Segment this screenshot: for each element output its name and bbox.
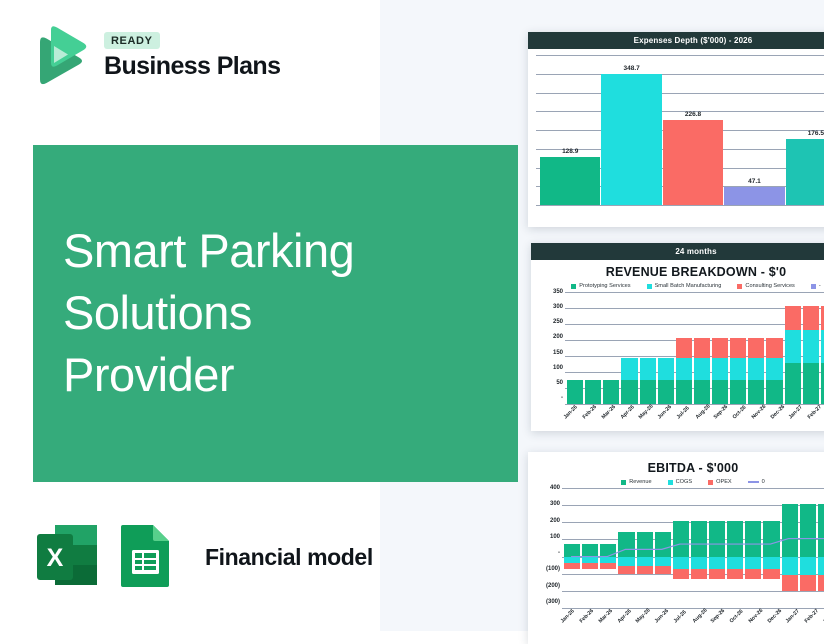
positive-stack [709, 521, 725, 556]
bar-segment[interactable] [785, 330, 801, 363]
bar-segment[interactable] [727, 521, 743, 556]
x-tick-label: Jun-26 [654, 608, 670, 624]
x-tick: Oct-26 [727, 609, 744, 635]
chart-card-expenses[interactable]: Expenses Depth ($'000) - 2026 128.9348.7… [528, 32, 824, 227]
expenses-bars: 128.9348.7226.847.1176.5 [536, 55, 824, 205]
positive-stack [691, 521, 707, 556]
x-tick-label: Sep-26 [710, 608, 727, 625]
bar-segment[interactable] [800, 575, 816, 591]
revenue-bars [565, 292, 824, 404]
chart-title-expenses: Expenses Depth ($'000) - 2026 [528, 32, 824, 49]
x-tick: Feb-26 [577, 609, 594, 635]
x-tick: Apr-26 [614, 609, 631, 635]
y-axis-ebitda: 400300200100-(100)(200)(300) [534, 488, 560, 608]
svg-text:X: X [47, 544, 64, 572]
negative-stack [727, 557, 743, 580]
bar-segment[interactable] [730, 380, 746, 404]
bar-segment[interactable] [818, 557, 824, 576]
positive-stack [818, 504, 824, 557]
y-tick-label: 100 [534, 534, 560, 540]
bar-segment[interactable] [585, 380, 601, 404]
bar-column[interactable]: 128.9 [540, 55, 600, 205]
bar-segment[interactable] [618, 532, 634, 557]
bar-segment[interactable] [658, 358, 674, 380]
bar-segment[interactable] [748, 380, 764, 404]
bar-segment[interactable] [694, 338, 710, 357]
bar-segment[interactable] [658, 380, 674, 404]
x-tick: Mar-26 [596, 609, 613, 635]
positive-stack [727, 521, 743, 556]
legend-item[interactable]: OPEX [708, 479, 732, 485]
bar-segment[interactable] [640, 358, 656, 380]
bar-segment[interactable] [618, 566, 634, 574]
y-tick-label: (200) [534, 583, 560, 589]
stacked-bar-column[interactable] [785, 292, 801, 404]
stacked-bar-column[interactable] [658, 292, 674, 404]
stacked-bar-column[interactable] [673, 488, 689, 608]
x-tick-label: Feb-26 [579, 608, 595, 624]
bar-segment[interactable] [709, 557, 725, 569]
footer-label: Financial model [205, 544, 373, 571]
legend-swatch [708, 480, 713, 485]
bar-segment[interactable] [673, 557, 689, 569]
x-tick-label: Dec-26 [766, 608, 783, 625]
x-tick-label: Feb-27 [807, 404, 823, 420]
bar-segment[interactable] [803, 306, 819, 329]
x-tick: Oct-26 [730, 405, 747, 431]
bar-segment[interactable] [800, 557, 816, 576]
negative-stack [691, 557, 707, 580]
bar[interactable] [540, 157, 600, 205]
bar-segment[interactable] [766, 358, 782, 380]
chart-card-revenue[interactable]: 24 months REVENUE BREAKDOWN - $'0 Protot… [531, 243, 824, 431]
page-title: Smart Parking Solutions Provider [63, 220, 483, 406]
negative-stack [763, 557, 779, 580]
x-tick-label: Jan-26 [563, 404, 579, 420]
stacked-bar-column[interactable] [585, 292, 601, 404]
x-tick: Dec-26 [767, 405, 784, 431]
legend-swatch [737, 284, 742, 289]
y-tick-label: - [534, 550, 560, 556]
bar-segment[interactable] [567, 380, 583, 404]
brand-name: Business Plans [104, 53, 280, 79]
x-tick-label: Jun-26 [657, 404, 673, 420]
positive-stack [637, 532, 653, 557]
x-tick: Dec-26 [764, 609, 781, 635]
bar-segment[interactable] [763, 569, 779, 579]
double-play-triangle-logo-icon [30, 26, 90, 86]
legend-item[interactable]: Revenue [621, 479, 651, 485]
stacked-bar-column[interactable] [637, 488, 653, 608]
x-tick-label: Jan-27 [788, 404, 804, 420]
x-axis-ebitda: Jan-26Feb-26Mar-26Apr-26May-26Jun-26Jul-… [528, 609, 824, 635]
bar-segment[interactable] [603, 380, 619, 404]
x-tick-label: Mar-26 [598, 608, 614, 624]
bar-segment[interactable] [748, 338, 764, 357]
negative-stack [673, 557, 689, 580]
revenue-plot-area: 35030025020015010050- [537, 292, 824, 404]
bar-segment[interactable] [727, 557, 743, 569]
x-tick-label: Feb-26 [582, 404, 598, 420]
bar-segment[interactable] [564, 544, 580, 557]
bar-segment[interactable] [730, 338, 746, 357]
bar-segment[interactable] [694, 380, 710, 404]
stacked-bar-column[interactable] [709, 488, 725, 608]
legend-swatch [811, 284, 816, 289]
x-tick: Mar-26 [599, 405, 616, 431]
x-tick: Aug-26 [692, 405, 709, 431]
chart-legend-ebitda: RevenueCOGSOPEX0 [528, 475, 824, 486]
x-tick-label: Aug-26 [694, 403, 711, 420]
x-tick-label: Oct-26 [729, 609, 745, 625]
chart-banner-revenue: 24 months [531, 243, 824, 260]
bar-value-label: 47.1 [748, 178, 761, 185]
x-tick-label: Aug-26 [691, 607, 708, 624]
x-tick: Jan-26 [561, 405, 578, 431]
bar-segment[interactable] [673, 521, 689, 556]
x-tick-label: Feb-27 [804, 608, 820, 624]
negative-stack [782, 557, 798, 592]
stacked-bar-column[interactable] [694, 292, 710, 404]
bar-segment[interactable] [691, 569, 707, 579]
bar-segment[interactable] [766, 338, 782, 357]
stacked-bar-column[interactable] [640, 292, 656, 404]
stacked-bar-column[interactable] [800, 488, 816, 608]
bar-segment[interactable] [745, 521, 761, 556]
legend-label: Prototyping Services [579, 283, 630, 289]
stacked-bar-column[interactable] [803, 292, 819, 404]
footer-row: X Financial model [33, 521, 373, 593]
x-tick: Jul-26 [671, 609, 688, 635]
x-tick: Feb-27 [805, 405, 822, 431]
x-tick-label: Jul-26 [676, 405, 691, 420]
stacked-bar-column[interactable] [818, 488, 824, 608]
brand-lockup: READY Business Plans [30, 26, 280, 86]
bar-segment[interactable] [818, 504, 824, 557]
bar-segment[interactable] [818, 575, 824, 591]
bar-segment[interactable] [655, 566, 671, 574]
stacked-bar-column[interactable] [600, 488, 616, 608]
bar-column[interactable]: 176.5 [786, 55, 824, 205]
y-tick-label: (300) [534, 599, 560, 605]
x-tick: Aug-26 [689, 609, 706, 635]
microsoft-excel-icon: X [33, 521, 101, 593]
legend-swatch [647, 284, 652, 289]
bar-segment[interactable] [621, 380, 637, 404]
stacked-bar-column[interactable] [567, 292, 583, 404]
bar-segment[interactable] [676, 358, 692, 380]
bar-segment[interactable] [655, 532, 671, 557]
bar-segment[interactable] [730, 358, 746, 380]
x-tick-label: Apr-26 [616, 608, 632, 624]
legend-label: OPEX [716, 479, 732, 485]
stacked-bar-column[interactable] [766, 292, 782, 404]
x-tick-label: Jan-27 [785, 608, 801, 624]
google-sheets-icon [115, 521, 183, 593]
positive-stack [600, 544, 616, 557]
bar-segment[interactable] [637, 557, 653, 566]
bar-segment[interactable] [637, 566, 653, 574]
legend-label: COGS [676, 479, 692, 485]
positive-stack [655, 532, 671, 557]
stacked-bar-column[interactable] [782, 488, 798, 608]
y-tick-label: 150 [537, 350, 563, 356]
x-tick-label: Jul-26 [673, 609, 688, 624]
bar-column[interactable]: 348.7 [601, 55, 661, 205]
legend-swatch [621, 480, 626, 485]
legend-label: 0 [762, 479, 765, 485]
x-tick-label: Apr-26 [619, 404, 635, 420]
x-tick-label: Oct-26 [732, 405, 748, 421]
stacked-bar-column[interactable] [603, 292, 619, 404]
bar-value-label: 176.5 [808, 130, 824, 137]
x-tick: Jan-27 [786, 405, 803, 431]
chart-title-revenue: REVENUE BREAKDOWN - $'0 [531, 260, 824, 279]
negative-stack [800, 557, 816, 592]
bar-segment[interactable] [785, 363, 801, 404]
positive-stack [582, 544, 598, 557]
bar-segment[interactable] [785, 306, 801, 329]
legend-item[interactable]: Consulting Services [737, 283, 794, 289]
bar-segment[interactable] [712, 380, 728, 404]
bar-value-label: 128.9 [562, 148, 578, 155]
bar-segment[interactable] [782, 504, 798, 557]
negative-stack [582, 557, 598, 570]
bar-segment[interactable] [782, 575, 798, 591]
negative-stack [745, 557, 761, 580]
bar-segment[interactable] [694, 358, 710, 380]
legend-label: Revenue [629, 479, 651, 485]
ebitda-bars [562, 488, 824, 608]
bar[interactable] [786, 139, 824, 205]
chart-title-ebitda: EBITDA - $'000 [528, 452, 824, 475]
stacked-bar-column[interactable] [727, 488, 743, 608]
bar-segment[interactable] [600, 544, 616, 557]
legend-swatch [748, 481, 759, 483]
y-tick-label: 400 [534, 485, 560, 491]
legend-item[interactable]: Small Batch Manufacturing [647, 283, 722, 289]
x-tick: Apr-26 [617, 405, 634, 431]
bar-segment[interactable] [766, 380, 782, 404]
stacked-bar-column[interactable] [712, 292, 728, 404]
bar-segment[interactable] [637, 532, 653, 557]
x-tick-label: Nov-26 [748, 608, 765, 625]
y-tick-label: 250 [537, 319, 563, 325]
stacked-bar-column[interactable] [621, 292, 637, 404]
bar-segment[interactable] [763, 557, 779, 569]
bar-segment[interactable] [803, 330, 819, 363]
x-tick: Jun-26 [652, 609, 669, 635]
stacked-bar-column[interactable] [763, 488, 779, 608]
bar-segment[interactable] [727, 569, 743, 579]
ready-badge: READY [104, 32, 160, 49]
x-tick: May-26 [636, 405, 653, 431]
chart-legend-revenue: Prototyping ServicesSmall Batch Manufact… [531, 279, 824, 290]
stacked-bar-column[interactable] [748, 292, 764, 404]
x-tick-label: Dec-26 [769, 404, 786, 421]
bar[interactable] [601, 74, 661, 205]
legend-item[interactable]: Prototyping Services [571, 283, 630, 289]
x-tick: Sep-26 [711, 405, 728, 431]
bar-segment[interactable] [673, 569, 689, 579]
x-tick-label: Mar-26 [601, 404, 617, 420]
negative-stack [618, 557, 634, 575]
stacked-bar-column[interactable] [618, 488, 634, 608]
x-tick: Mar-27 [821, 609, 824, 635]
negative-stack [637, 557, 653, 575]
x-tick: Nov-26 [749, 405, 766, 431]
bar-column[interactable]: 226.8 [663, 55, 723, 205]
stacked-bar-column[interactable] [730, 292, 746, 404]
legend-swatch [668, 480, 673, 485]
y-tick-label: 300 [537, 304, 563, 310]
bar-segment[interactable] [709, 521, 725, 556]
expenses-plot-area: 128.9348.7226.847.1176.5 [536, 55, 824, 205]
negative-stack [600, 557, 616, 570]
x-tick: Jan-26 [558, 609, 575, 635]
x-tick-label: May-26 [638, 403, 655, 420]
chart-card-ebitda[interactable]: EBITDA - $'000 RevenueCOGSOPEX0 40030020… [528, 452, 824, 644]
legend-label: - [819, 283, 821, 289]
x-tick: Nov-26 [746, 609, 763, 635]
stacked-bar-column[interactable] [564, 488, 580, 608]
stacked-bar-column[interactable] [691, 488, 707, 608]
bar-segment[interactable] [712, 338, 728, 357]
x-tick-label: Sep-26 [713, 404, 730, 421]
y-tick-label: 200 [537, 334, 563, 340]
stacked-bar-column[interactable] [655, 488, 671, 608]
bar-segment[interactable] [800, 504, 816, 557]
bar-segment[interactable] [803, 363, 819, 404]
bar-segment[interactable] [618, 557, 634, 566]
y-tick-label: 200 [534, 518, 560, 524]
legend-label: Small Batch Manufacturing [655, 283, 722, 289]
bar-segment[interactable] [582, 544, 598, 557]
negative-stack [564, 557, 580, 570]
positive-stack [673, 521, 689, 556]
bar-value-label: 348.7 [623, 65, 639, 72]
bar-segment[interactable] [763, 521, 779, 556]
x-tick: Jan-27 [783, 609, 800, 635]
bar[interactable] [663, 120, 723, 205]
bar-segment[interactable] [709, 569, 725, 579]
y-axis-revenue: 35030025020015010050- [537, 292, 563, 404]
positive-stack [745, 521, 761, 556]
bar-segment[interactable] [691, 521, 707, 556]
bar-segment[interactable] [640, 380, 656, 404]
positive-stack [763, 521, 779, 556]
y-tick-label: 300 [534, 501, 560, 507]
x-axis-revenue: Jan-26Feb-26Mar-26Apr-26May-26Jun-26Jul-… [531, 405, 824, 431]
legend-item[interactable]: - [811, 283, 821, 289]
bar-segment[interactable] [691, 557, 707, 569]
bar-value-label: 226.8 [685, 111, 701, 118]
stacked-bar-column[interactable] [745, 488, 761, 608]
x-tick-label: May-26 [635, 607, 652, 624]
stacked-bar-column[interactable] [582, 488, 598, 608]
gridline [536, 205, 824, 206]
bar-segment[interactable] [600, 563, 616, 570]
positive-stack [564, 544, 580, 557]
y-tick-label: 350 [537, 289, 563, 295]
x-tick: Feb-26 [580, 405, 597, 431]
ebitda-plot-area: 400300200100-(100)(200)(300) [534, 488, 824, 608]
x-tick: May-26 [633, 609, 650, 635]
stacked-bar-column[interactable] [676, 292, 692, 404]
bar-segment[interactable] [712, 358, 728, 380]
x-tick-label: Jan-26 [560, 608, 576, 624]
x-tick-label: Nov-26 [751, 404, 768, 421]
legend-item[interactable]: COGS [668, 479, 692, 485]
y-tick-label: 100 [537, 365, 563, 371]
x-tick: Jul-26 [674, 405, 691, 431]
negative-stack [709, 557, 725, 580]
bar-segment[interactable] [745, 557, 761, 569]
positive-stack [782, 504, 798, 557]
bar[interactable] [724, 187, 784, 205]
x-tick: Feb-27 [802, 609, 819, 635]
bar-segment[interactable] [655, 557, 671, 566]
legend-label: Consulting Services [745, 283, 794, 289]
y-tick-label: 50 [537, 380, 563, 386]
legend-item[interactable]: 0 [748, 479, 765, 485]
bar-segment[interactable] [564, 563, 580, 570]
bar-segment[interactable] [676, 338, 692, 357]
negative-stack [655, 557, 671, 575]
bar-segment[interactable] [782, 557, 798, 576]
x-tick: Sep-26 [708, 609, 725, 635]
negative-stack [818, 557, 824, 592]
y-tick-label: - [537, 395, 563, 401]
bar-segment[interactable] [745, 569, 761, 579]
y-tick-label: (100) [534, 566, 560, 572]
hero-block: Smart Parking Solutions Provider [33, 145, 518, 482]
legend-swatch [571, 284, 576, 289]
positive-stack [618, 532, 634, 557]
positive-stack [800, 504, 816, 557]
bar-segment[interactable] [582, 563, 598, 570]
bar-segment[interactable] [676, 380, 692, 404]
x-tick: Jun-26 [655, 405, 672, 431]
bar-column[interactable]: 47.1 [724, 55, 784, 205]
bar-segment[interactable] [621, 358, 637, 380]
bar-segment[interactable] [748, 358, 764, 380]
